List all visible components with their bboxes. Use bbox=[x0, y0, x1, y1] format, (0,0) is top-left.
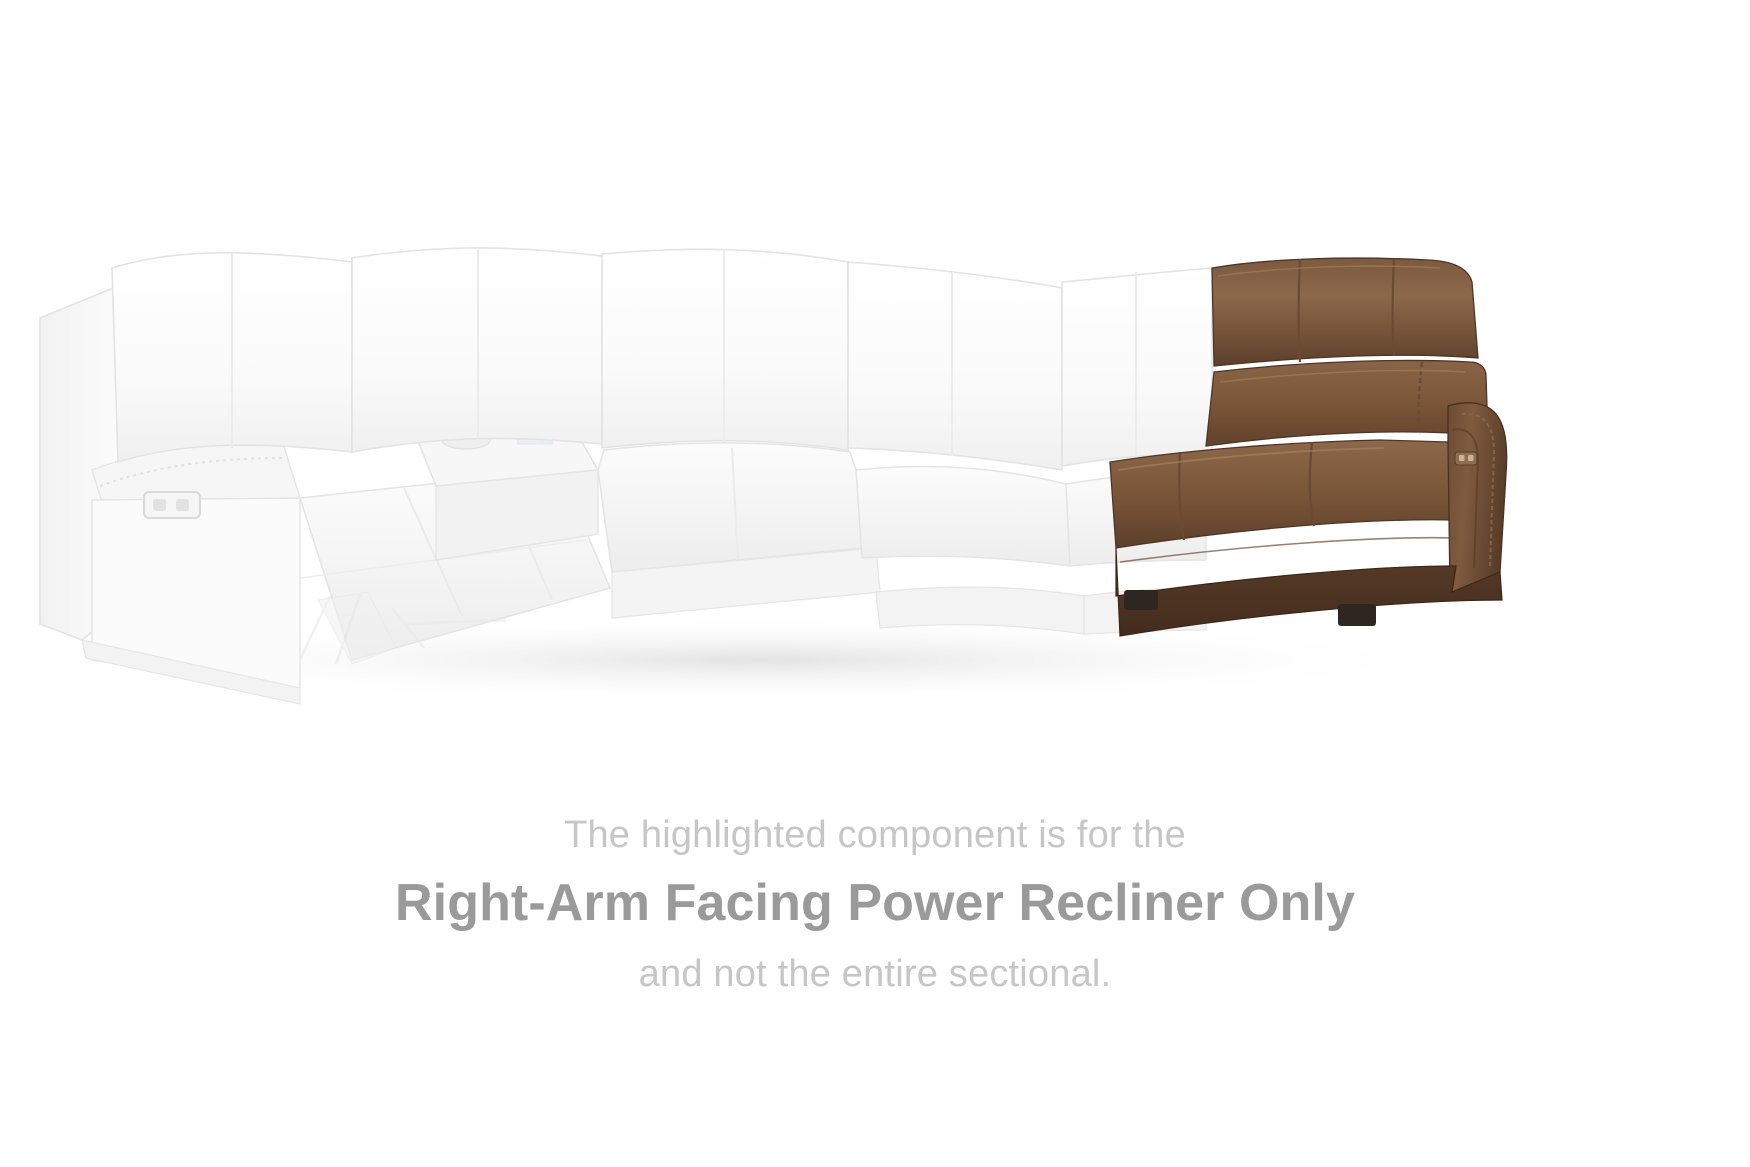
wedge-seat-cushion bbox=[856, 466, 1070, 566]
power-button-glyph-right bbox=[176, 499, 189, 511]
caption-lead-line: The highlighted component is for the bbox=[0, 812, 1750, 858]
product-image bbox=[0, 0, 1750, 800]
ghost-armless-recliner-right bbox=[1062, 268, 1212, 634]
power-button-body bbox=[144, 492, 200, 518]
caption-block: The highlighted component is for the Rig… bbox=[0, 812, 1750, 997]
ghost-wedge bbox=[848, 262, 1084, 634]
ghost-armless-recliner-center bbox=[598, 249, 880, 618]
raf-foot-right bbox=[1338, 604, 1376, 626]
power-recline-button-body bbox=[1455, 452, 1477, 465]
sectional-illustration bbox=[0, 0, 1750, 800]
power-recline-button-icon[interactable] bbox=[1455, 452, 1477, 465]
caption-trailing-line: and not the entire sectional. bbox=[0, 951, 1750, 997]
raf-seat-cushion bbox=[1110, 440, 1454, 548]
product-highlight-page: The highlighted component is for the Rig… bbox=[0, 0, 1750, 1167]
raf-back-cushion-lower bbox=[1206, 360, 1488, 446]
raf-foot-left bbox=[1124, 590, 1158, 610]
caption-headline: Right-Arm Facing Power Recliner Only bbox=[0, 872, 1750, 934]
power-button-icon[interactable] bbox=[144, 492, 200, 518]
power-recline-glyph-left bbox=[1459, 455, 1465, 461]
wedge-back-cushion bbox=[848, 262, 1062, 470]
ghost-armless-chair bbox=[352, 248, 602, 452]
power-recline-glyph-right bbox=[1468, 455, 1474, 461]
raf-back-cushion-upper bbox=[1212, 258, 1478, 366]
power-button-glyph-left bbox=[153, 499, 166, 511]
raf-base-rail bbox=[1116, 548, 1502, 636]
